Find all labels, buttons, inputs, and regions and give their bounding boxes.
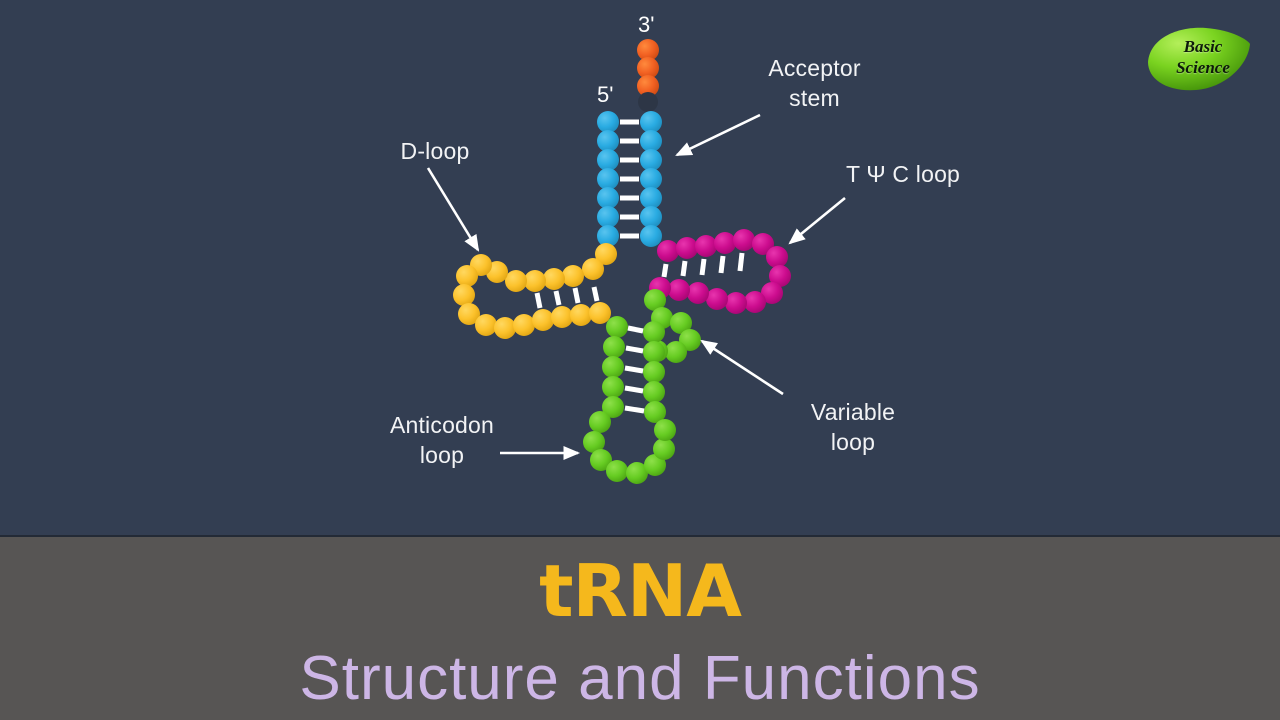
anticodon-loop-beads [583, 411, 676, 484]
diagram-panel: 3' 5' Acceptor stem D-loop T Ψ C loop Va… [0, 0, 1280, 535]
d-loop-base-pair-rungs [537, 287, 597, 308]
arrow-d-loop [428, 168, 478, 250]
label-acceptor-stem: Acceptor stem [742, 53, 887, 113]
label-tpsic-loop: T Ψ C loop [838, 159, 968, 189]
main-title: tRNA [0, 549, 1280, 633]
acceptor-stem-base-pair-rungs [620, 122, 639, 236]
label-anticodon-loop: Anticodon loop [372, 410, 512, 470]
anticodon-stem-right-strand [643, 321, 666, 423]
arrow-tpsic-loop [790, 198, 845, 243]
three-prime-label: 3' [638, 12, 654, 38]
trna-structure-diagram [0, 0, 1280, 535]
anticodon-stem-left-strand [602, 316, 628, 418]
basic-science-logo[interactable] [1148, 28, 1250, 90]
label-variable-loop: Variable loop [793, 397, 913, 457]
screenshot-root: 3' 5' Acceptor stem D-loop T Ψ C loop Va… [0, 0, 1280, 720]
sub-title: Structure and Functions [0, 643, 1280, 714]
anticodon-stem-base-pair-rungs [625, 328, 644, 411]
arrow-acceptor-stem [677, 115, 760, 155]
arrow-variable-loop [702, 341, 783, 394]
label-d-loop: D-loop [380, 136, 490, 166]
acceptor-stem-right-strand [640, 111, 662, 247]
acceptor-stem-left-strand [597, 111, 619, 247]
three-prime-end-beads [637, 39, 659, 112]
leaf-icon [1148, 28, 1250, 90]
five-prime-label: 5' [597, 82, 613, 108]
